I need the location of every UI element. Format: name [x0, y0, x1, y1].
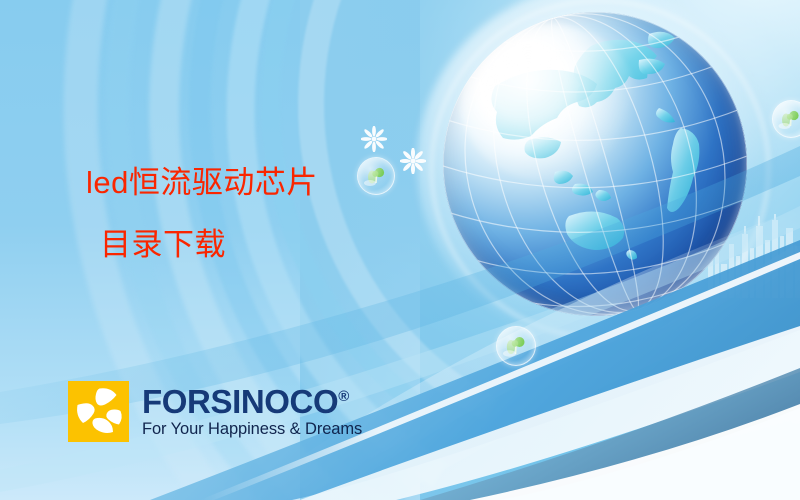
headline-line-2: 目录下载 [86, 225, 466, 265]
promotional-banner: led恒流驱动芯片 目录下载 FORSINOCO® For Your Happi… [0, 0, 800, 500]
pinwheel-icon [68, 381, 129, 442]
registered-trademark-symbol: ® [338, 388, 349, 405]
logo-text-block: FORSINOCO® For Your Happiness & Dreams [142, 385, 362, 439]
company-logo: FORSINOCO® For Your Happiness & Dreams [68, 381, 362, 442]
starburst-flower-1 [361, 126, 387, 152]
headline-line-1: led恒流驱动芯片 [86, 165, 318, 200]
logo-wordmark-text: FORSINOCO [142, 383, 338, 420]
bubble-sprout-2 [496, 326, 536, 366]
logo-wordmark: FORSINOCO® [142, 385, 362, 418]
headline-text: led恒流驱动芯片 目录下载 [86, 163, 466, 265]
logo-tagline: For Your Happiness & Dreams [142, 420, 362, 439]
forsinoco-pinwheel-logo [68, 381, 129, 442]
bubble-sprout-3 [772, 100, 800, 138]
bubble-shell [496, 326, 536, 366]
